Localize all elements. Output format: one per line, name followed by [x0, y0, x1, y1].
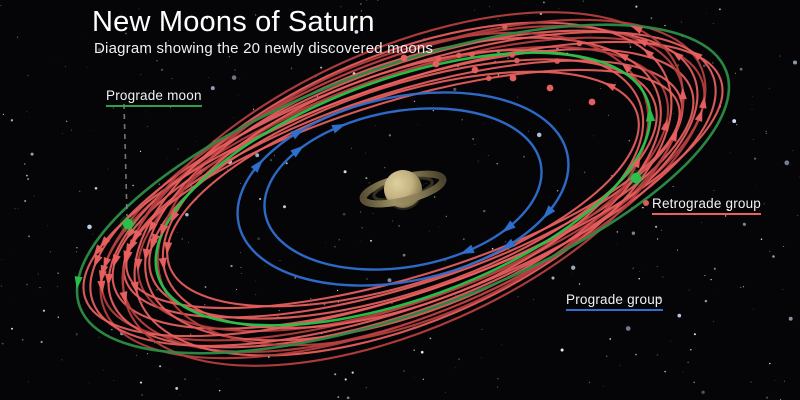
- annotation-prograde-group: Prograde group: [566, 292, 663, 311]
- annotation-prograde-moon: Prograde moon: [106, 88, 202, 107]
- page-subtitle: Diagram showing the 20 newly discovered …: [94, 40, 433, 57]
- prograde-moon-leader-line: [124, 104, 127, 216]
- saturn-planet: [359, 161, 448, 220]
- page-title: New Moons of Saturn: [92, 6, 375, 39]
- annotation-retrograde-group: Retrograde group: [652, 196, 761, 215]
- saturn-moons-diagram: New Moons of Saturn Diagram showing the …: [0, 0, 800, 400]
